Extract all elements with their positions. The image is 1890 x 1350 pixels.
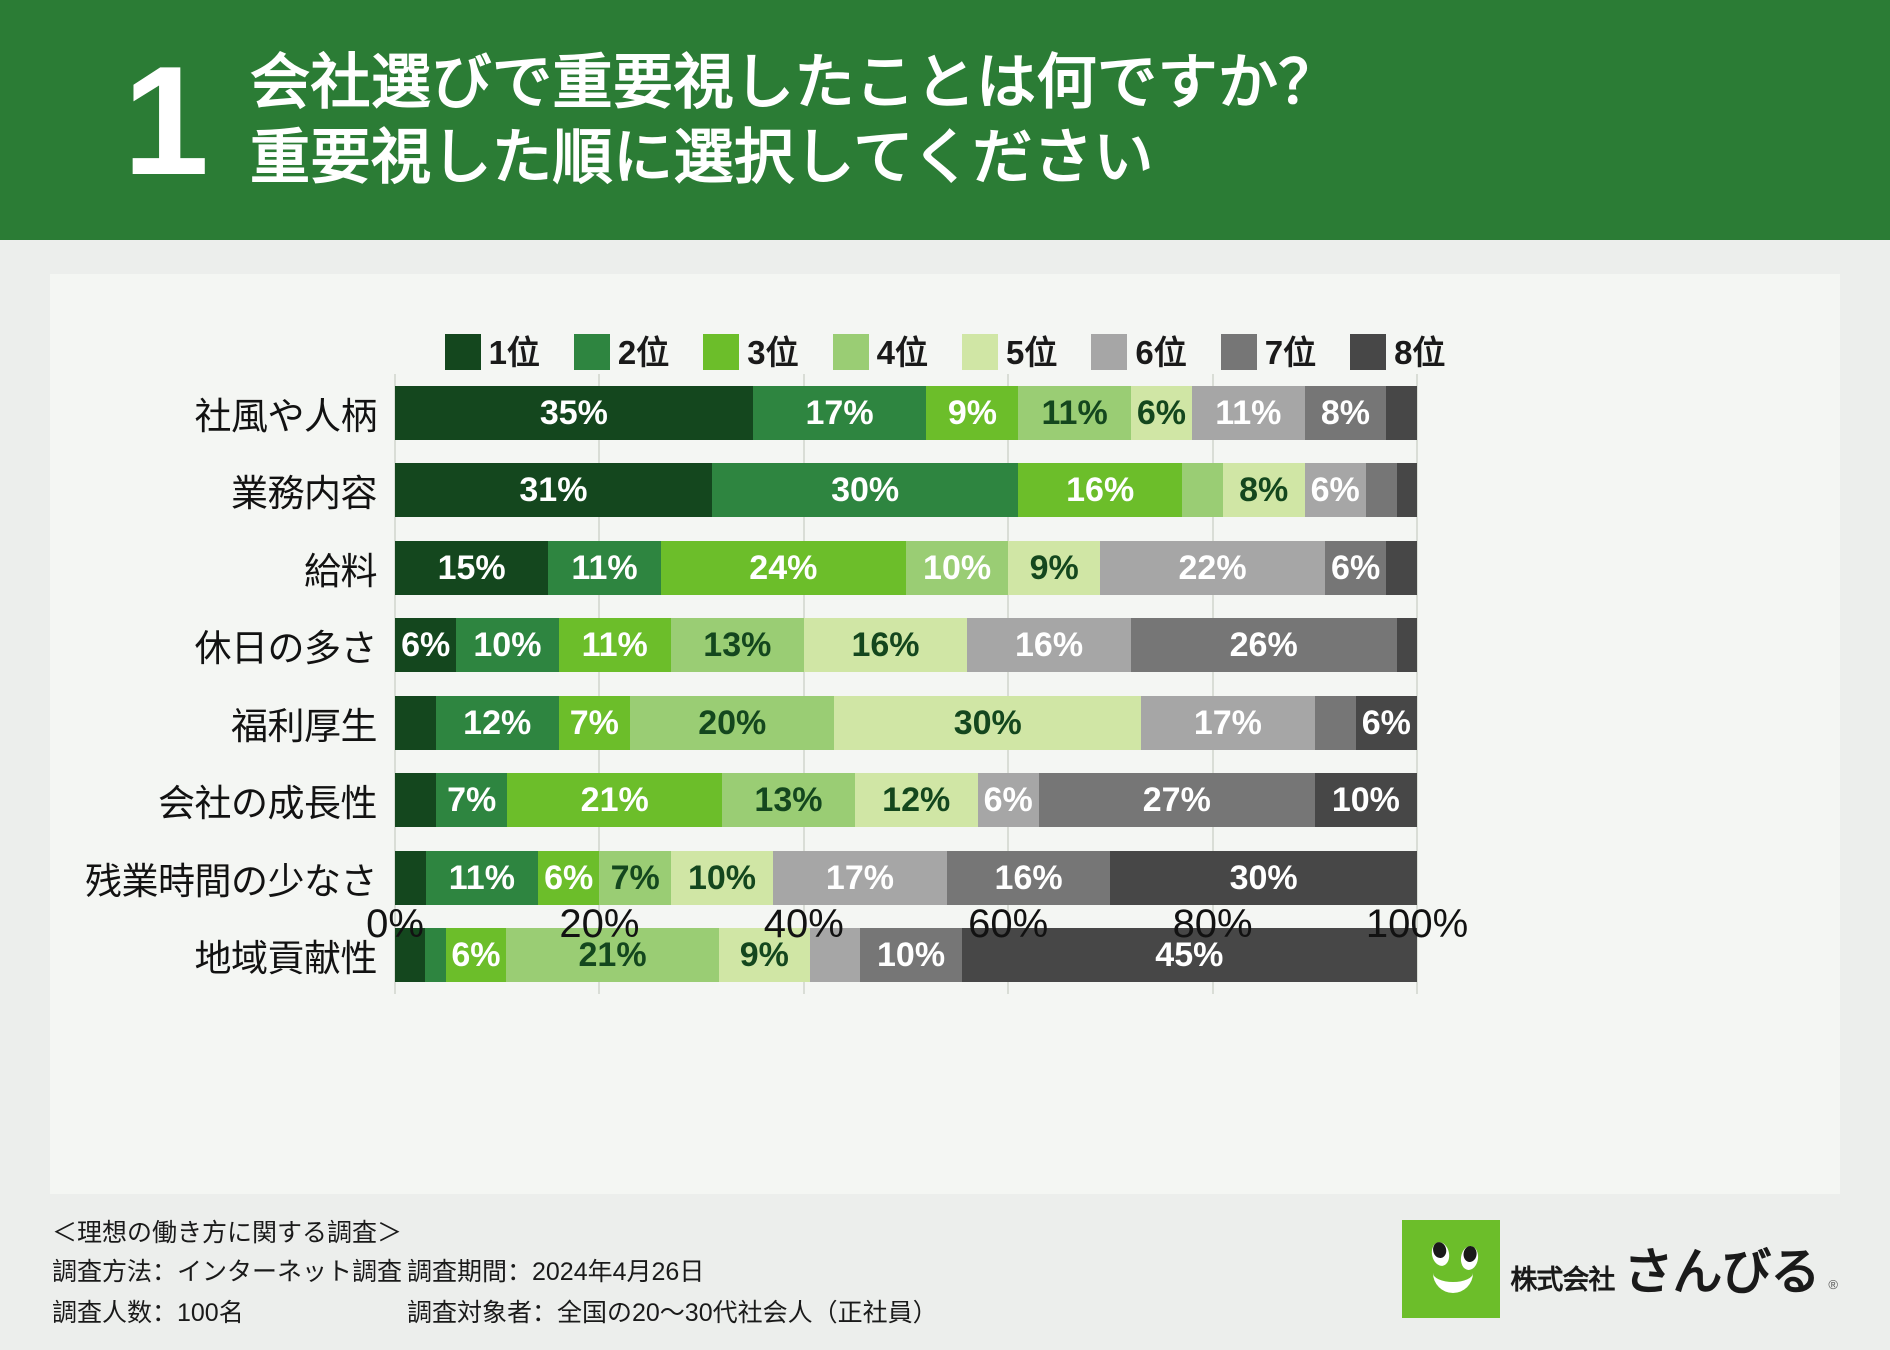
bar-row-3: 15%11%24%10%9%22%6% [395, 541, 1417, 595]
question-title-line-1: 会社選びで重要視したことは何ですか？ [250, 45, 1339, 120]
bar-segment-r1-3位[interactable]: 9% [926, 386, 1018, 440]
bar-segment-r5-5位[interactable]: 30% [834, 696, 1141, 750]
bar-segment-r7-3位[interactable]: 6% [538, 851, 599, 905]
category-label-1: 社風や人柄 [50, 374, 395, 452]
legend-label: 6位 [1135, 336, 1186, 369]
bar-row-1: 35%17%9%11%6%11%8% [395, 386, 1417, 440]
category-label-4: 休日の多さ [50, 607, 395, 685]
x-tick-100: 100% [1366, 902, 1468, 947]
bar-row-4: 6%10%11%13%16%16%26% [395, 618, 1417, 672]
bar-segment-r6-5位[interactable]: 12% [855, 773, 978, 827]
bar-segment-r6-1位[interactable] [395, 773, 436, 827]
bar-segment-r2-4位[interactable] [1182, 463, 1223, 517]
legend-item-5[interactable]: 5位 [962, 334, 1057, 370]
bar-segment-r4-3位[interactable]: 11% [559, 618, 671, 672]
eye-left-icon [1430, 1240, 1452, 1267]
category-label-5: 福利厚生 [50, 684, 395, 762]
bar-segment-r6-6位[interactable]: 6% [978, 773, 1039, 827]
legend-item-6[interactable]: 6位 [1091, 334, 1186, 370]
company-prefix: 株式会社 [1510, 1258, 1614, 1297]
company-name-text: 株式会社 さんびる ® [1510, 1232, 1838, 1306]
bar-segment-r5-8位[interactable]: 6% [1356, 696, 1417, 750]
bar-segment-r5-6位[interactable]: 17% [1141, 696, 1315, 750]
bar-segment-r3-1位[interactable]: 15% [395, 541, 548, 595]
bar-row-5: 12%7%20%30%17%6% [395, 696, 1417, 750]
bar-segment-r3-6位[interactable]: 22% [1100, 541, 1325, 595]
stacked-bars-container: 35%17%9%11%6%11%8%31%30%16%8%6%15%11%24%… [395, 374, 1417, 994]
legend-label: 8位 [1394, 336, 1445, 369]
question-title-line-2: 重要視した順に選択してください [250, 120, 1339, 195]
survey-period: 調査期間：2024年4月26日 [407, 1253, 938, 1292]
x-tick-0: 0% [366, 902, 424, 947]
bar-segment-r1-1位[interactable]: 35% [395, 386, 753, 440]
bar-row-6: 7%21%13%12%6%27%10% [395, 773, 1417, 827]
registered-mark-icon: ® [1828, 1277, 1838, 1292]
chart-card: 1位2位3位4位5位6位7位8位 社風や人柄業務内容給料休日の多さ福利厚生会社の… [50, 274, 1840, 1194]
x-axis-ticks: 0%20%40%60%80%100% [395, 902, 1417, 962]
legend-swatch-icon [703, 334, 739, 370]
bar-segment-r4-7位[interactable]: 26% [1131, 618, 1397, 672]
bar-segment-r5-3位[interactable]: 7% [559, 696, 631, 750]
bar-segment-r3-2位[interactable]: 11% [548, 541, 660, 595]
bar-segment-r3-3位[interactable]: 24% [661, 541, 906, 595]
bar-segment-r1-5位[interactable]: 6% [1131, 386, 1192, 440]
bar-segment-r7-8位[interactable]: 30% [1110, 851, 1417, 905]
category-label-7: 残業時間の少なさ [50, 839, 395, 917]
question-title: 会社選びで重要視したことは何ですか？ 重要視した順に選択してください [250, 45, 1339, 195]
bar-segment-r1-2位[interactable]: 17% [753, 386, 927, 440]
legend-swatch-icon [574, 334, 610, 370]
bar-segment-r7-4位[interactable]: 7% [599, 851, 671, 905]
category-label-2: 業務内容 [50, 452, 395, 530]
bar-segment-r2-7位[interactable] [1366, 463, 1397, 517]
bar-segment-r1-6位[interactable]: 11% [1192, 386, 1304, 440]
chart-plot-area: 社風や人柄業務内容給料休日の多さ福利厚生会社の成長性残業時間の少なさ地域貢献性 … [50, 374, 1840, 1074]
legend-swatch-icon [1091, 334, 1127, 370]
survey-title: ＜理想の働き方に関する調査＞ [52, 1214, 938, 1253]
legend-swatch-icon [1221, 334, 1257, 370]
legend-label: 2位 [618, 336, 669, 369]
category-axis-labels: 社風や人柄業務内容給料休日の多さ福利厚生会社の成長性残業時間の少なさ地域貢献性 [50, 374, 395, 994]
bar-segment-r1-7位[interactable]: 8% [1305, 386, 1387, 440]
bar-segment-r7-1位[interactable] [395, 851, 426, 905]
legend-swatch-icon [1350, 334, 1386, 370]
bar-segment-r2-2位[interactable]: 30% [712, 463, 1019, 517]
legend-swatch-icon [962, 334, 998, 370]
legend-label: 5位 [1006, 336, 1057, 369]
bar-segment-r1-4位[interactable]: 11% [1018, 386, 1130, 440]
bar-segment-r6-8位[interactable]: 10% [1315, 773, 1417, 827]
bar-row-7: 11%6%7%10%17%16%30% [395, 851, 1417, 905]
survey-count: 調査人数：100名 [52, 1294, 407, 1333]
bar-segment-r1-8位[interactable] [1386, 386, 1417, 440]
bar-segment-r2-6位[interactable]: 6% [1305, 463, 1366, 517]
company-logo: 株式会社 さんびる ® [1402, 1220, 1838, 1318]
survey-target: 調査対象者：全国の20～30代社会人（正社員） [407, 1294, 938, 1333]
bar-segment-r4-4位[interactable]: 13% [671, 618, 804, 672]
bar-segment-r3-5位[interactable]: 9% [1008, 541, 1100, 595]
category-label-8: 地域貢献性 [50, 917, 395, 995]
bar-segment-r2-8位[interactable] [1397, 463, 1417, 517]
page-header: 1 会社選びで重要視したことは何ですか？ 重要視した順に選択してください [0, 0, 1890, 240]
legend-item-8[interactable]: 8位 [1350, 334, 1445, 370]
bar-segment-r5-4位[interactable]: 20% [630, 696, 834, 750]
x-tick-20: 20% [559, 902, 639, 947]
legend-item-4[interactable]: 4位 [833, 334, 928, 370]
bar-segment-r7-2位[interactable]: 11% [426, 851, 538, 905]
bar-segment-r3-4位[interactable]: 10% [906, 541, 1008, 595]
category-label-6: 会社の成長性 [50, 762, 395, 840]
bar-segment-r4-1位[interactable]: 6% [395, 618, 456, 672]
x-tick-40: 40% [764, 902, 844, 947]
bar-row-2: 31%30%16%8%6% [395, 463, 1417, 517]
company-name: さんびる [1623, 1232, 1819, 1304]
legend-swatch-icon [445, 334, 481, 370]
bar-segment-r7-5位[interactable]: 10% [671, 851, 773, 905]
bar-segment-r6-3位[interactable]: 21% [507, 773, 722, 827]
legend-item-3[interactable]: 3位 [703, 334, 798, 370]
legend-swatch-icon [833, 334, 869, 370]
page-footer: ＜理想の働き方に関する調査＞ 調査方法：インターネット調査 調査期間：2024年… [0, 1194, 1890, 1350]
survey-meta: ＜理想の働き方に関する調査＞ 調査方法：インターネット調査 調査期間：2024年… [52, 1214, 938, 1332]
legend-label: 7位 [1265, 336, 1316, 369]
bar-segment-r6-2位[interactable]: 7% [436, 773, 508, 827]
x-tick-80: 80% [1173, 902, 1253, 947]
legend-label: 4位 [877, 336, 928, 369]
question-number: 1 [85, 43, 245, 198]
bar-segment-r7-6位[interactable]: 17% [773, 851, 947, 905]
legend-item-7[interactable]: 7位 [1221, 334, 1316, 370]
survey-method: 調査方法：インターネット調査 [52, 1253, 407, 1292]
legend-label: 1位 [489, 336, 540, 369]
legend-label: 3位 [747, 336, 798, 369]
bar-segment-r3-8位[interactable] [1386, 541, 1417, 595]
bar-segment-r4-8位[interactable] [1397, 618, 1417, 672]
bar-segment-r4-6位[interactable]: 16% [967, 618, 1131, 672]
x-tick-60: 60% [968, 902, 1048, 947]
chart-legend: 1位2位3位4位5位6位7位8位 [50, 334, 1840, 370]
bar-segment-r3-7位[interactable]: 6% [1325, 541, 1386, 595]
legend-item-2[interactable]: 2位 [574, 334, 669, 370]
bar-segment-r2-5位[interactable]: 8% [1223, 463, 1305, 517]
bar-segment-r4-2位[interactable]: 10% [456, 618, 558, 672]
bar-segment-r2-3位[interactable]: 16% [1018, 463, 1182, 517]
category-label-3: 給料 [50, 529, 395, 607]
bar-segment-r5-2位[interactable]: 12% [436, 696, 559, 750]
bar-segment-r2-1位[interactable]: 31% [395, 463, 712, 517]
bar-segment-r5-7位[interactable] [1315, 696, 1356, 750]
bar-segment-r6-7位[interactable]: 27% [1039, 773, 1315, 827]
bar-segment-r6-4位[interactable]: 13% [722, 773, 855, 827]
bar-segment-r4-5位[interactable]: 16% [804, 618, 968, 672]
bar-segment-r7-7位[interactable]: 16% [947, 851, 1111, 905]
smiley-face-icon [1402, 1220, 1500, 1318]
smile-icon [1433, 1267, 1473, 1293]
bar-segment-r5-1位[interactable] [395, 696, 436, 750]
legend-item-1[interactable]: 1位 [445, 334, 540, 370]
